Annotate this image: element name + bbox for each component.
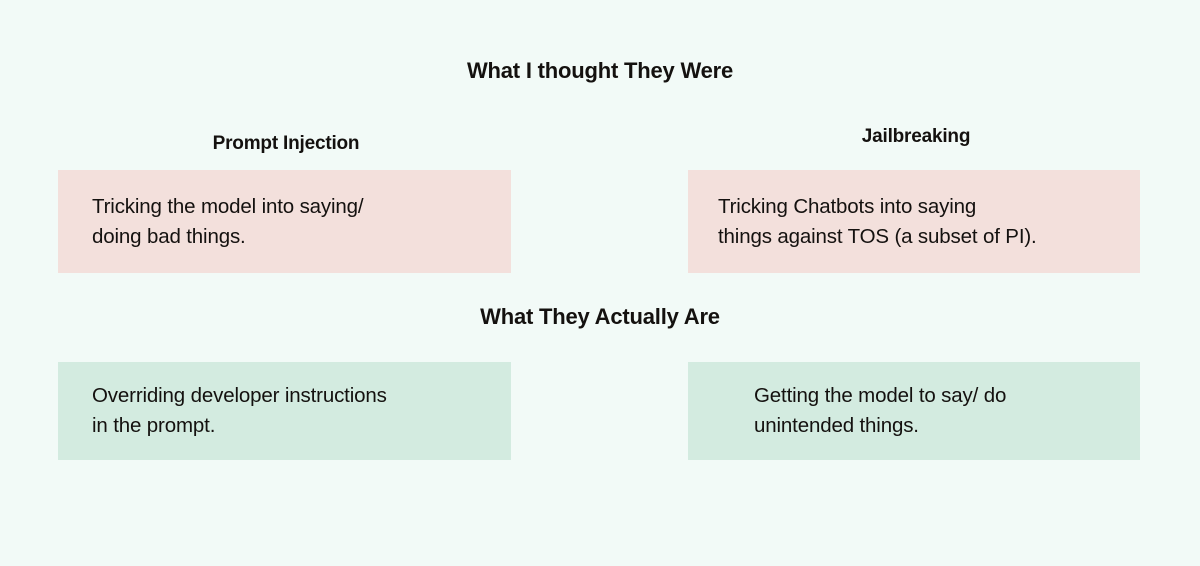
card-prompt-injection-misconception-text: Tricking the model into saying/ doing ba… — [92, 192, 363, 251]
card-prompt-injection-reality: Overriding developer instructions in the… — [58, 362, 511, 460]
section-title-what-i-thought: What I thought They Were — [0, 58, 1200, 84]
card-prompt-injection-reality-text: Overriding developer instructions in the… — [92, 381, 387, 440]
section-title-what-they-actually-are: What They Actually Are — [0, 304, 1200, 330]
card-jailbreaking-reality: Getting the model to say/ do unintended … — [688, 362, 1140, 460]
diagram-canvas: What I thought They Were Prompt Injectio… — [0, 0, 1200, 566]
column-title-jailbreaking: Jailbreaking — [790, 126, 1042, 148]
card-prompt-injection-misconception: Tricking the model into saying/ doing ba… — [58, 170, 511, 273]
card-jailbreaking-reality-text: Getting the model to say/ do unintended … — [754, 381, 1006, 440]
card-jailbreaking-misconception: Tricking Chatbots into saying things aga… — [688, 170, 1140, 273]
card-jailbreaking-misconception-text: Tricking Chatbots into saying things aga… — [718, 192, 1037, 251]
column-title-prompt-injection: Prompt Injection — [160, 133, 412, 155]
